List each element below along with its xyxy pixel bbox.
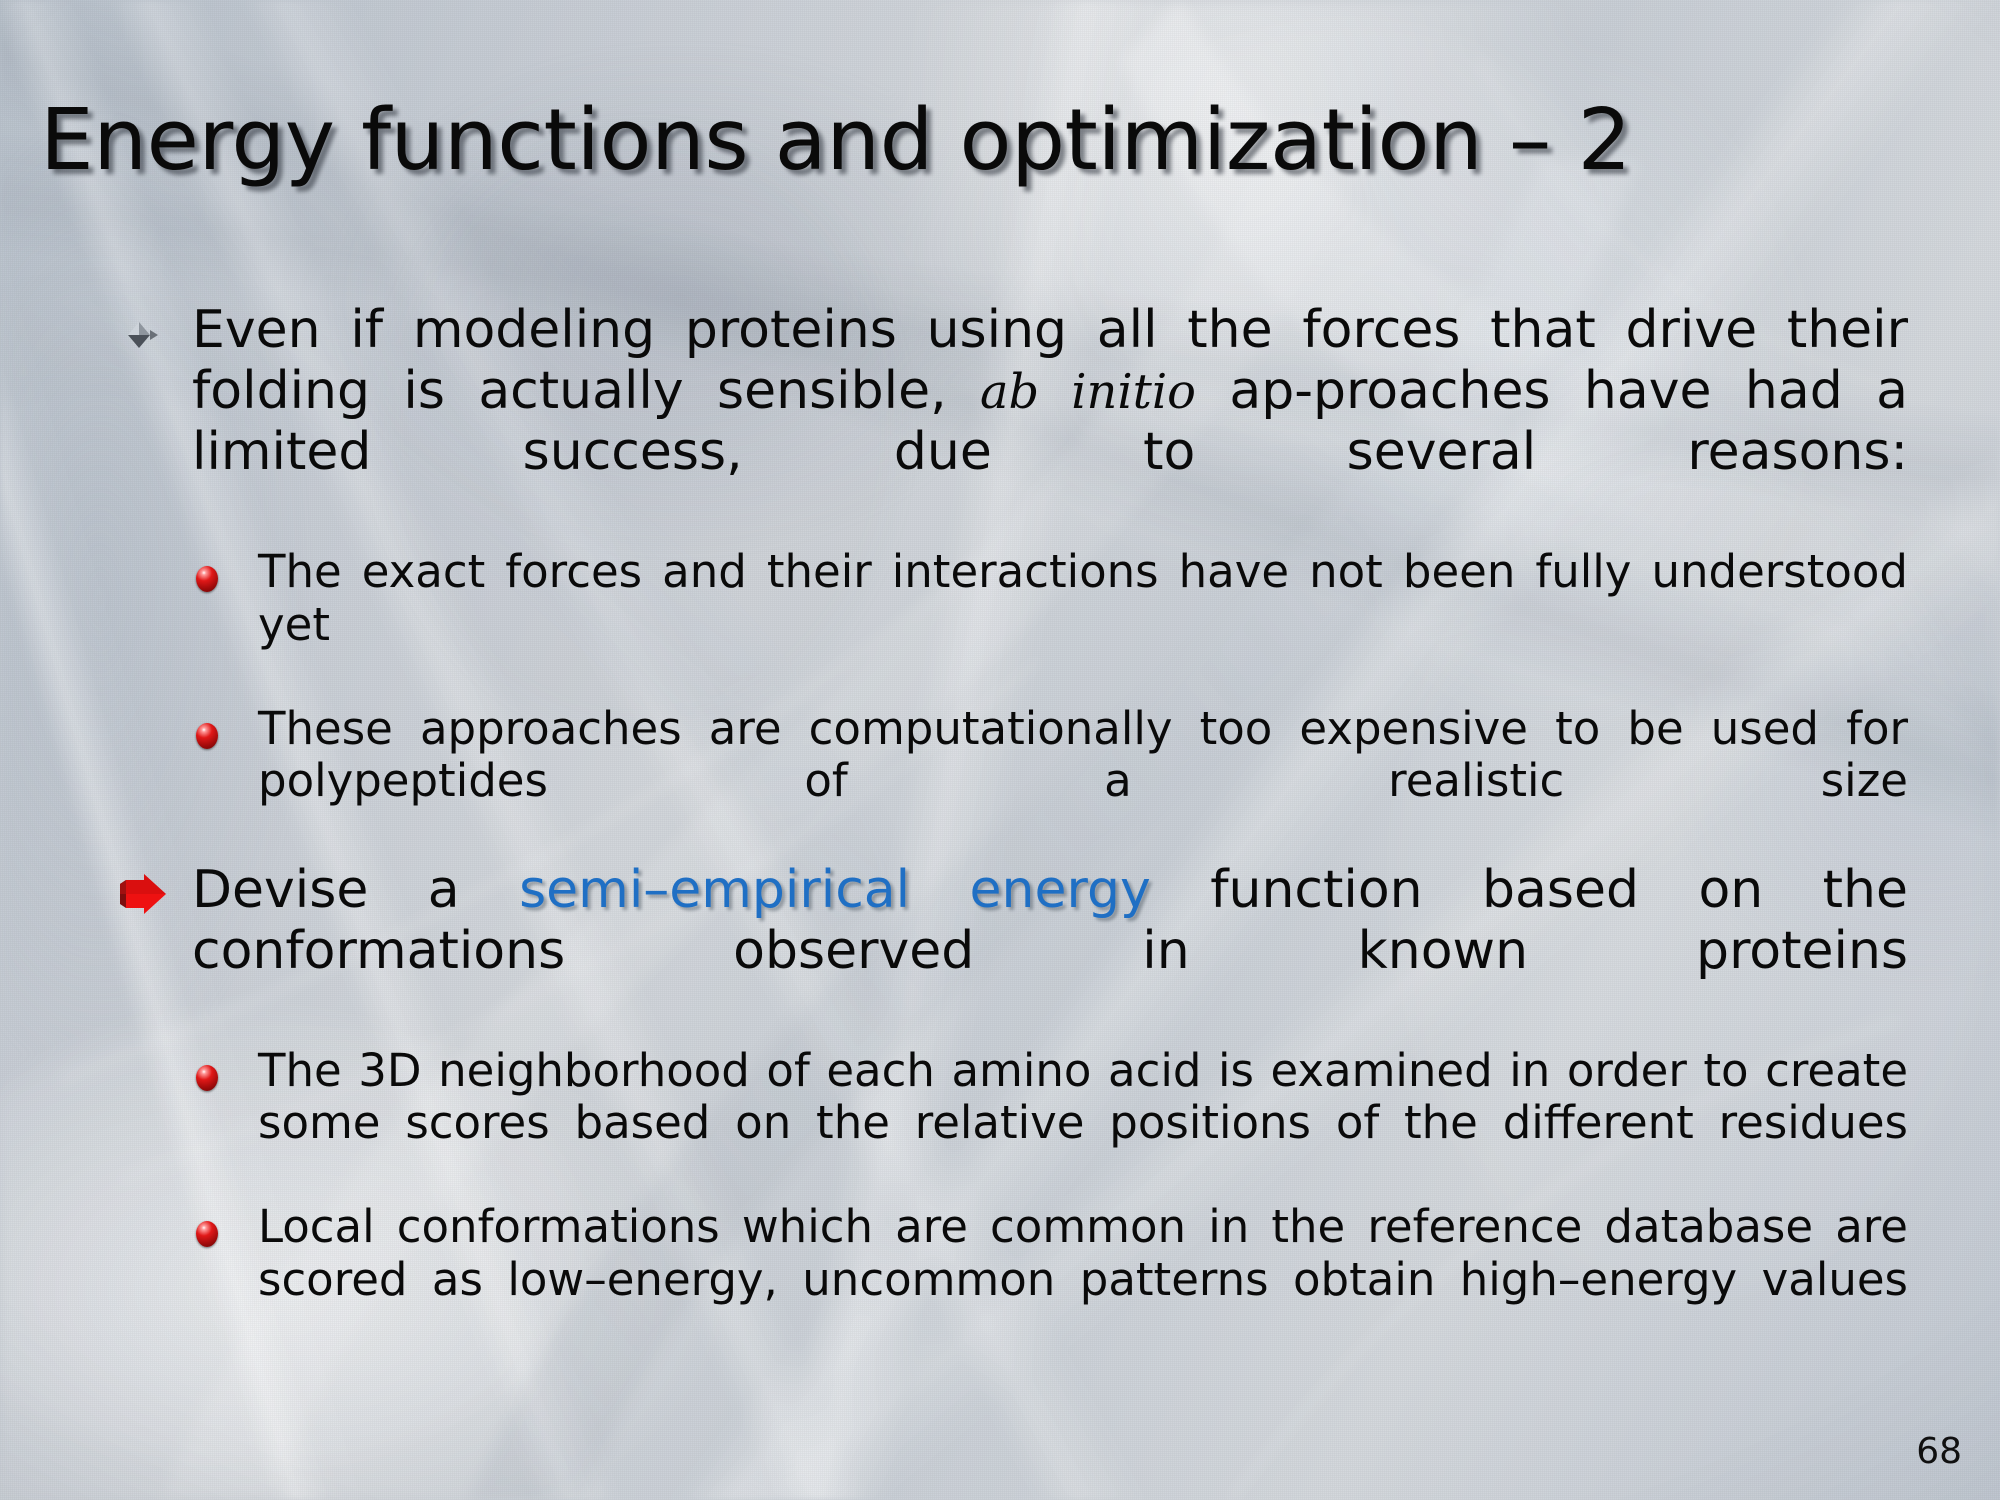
slide-title: Energy functions and optimization – 2 [40, 98, 1965, 183]
red-sphere-bullet-icon [196, 723, 218, 749]
bullet-level2-3d-neighborhood: The 3D neighborhood of each amino acid i… [118, 1045, 1908, 1202]
slide-body: Even if modeling proteins using all the … [118, 300, 1908, 1358]
bullet-level1-ab-initio: Even if modeling proteins using all the … [118, 300, 1908, 544]
red-sphere-bullet-icon [196, 1221, 218, 1247]
red-sphere-bullet-icon [196, 566, 218, 592]
bullet-text: The 3D neighborhood of each amino acid i… [258, 1045, 1908, 1202]
red-sphere-bullet-icon [196, 1065, 218, 1091]
slide-page-number: 68 [1916, 1431, 1962, 1472]
bullet-text: The exact forces and their interactions … [258, 546, 1908, 703]
red-arrow-bullet-icon [120, 874, 166, 914]
bullet-text-highlight-semi-empirical-energy: semi–empirical energy [519, 860, 1151, 920]
bullet-text: Local conformations which are common in … [258, 1201, 1908, 1358]
bullet-level2-computationally-expensive: These approaches are computationally too… [118, 703, 1908, 860]
bullet-text: Even if modeling proteins using all the … [192, 300, 1908, 544]
presentation-slide: Energy functions and optimization – 2 Ev… [0, 0, 2000, 1500]
bullet-text-italic-ab-initio: ab initio [980, 365, 1196, 420]
diamond-arrow-bullet-icon [128, 322, 158, 348]
bullet-text: Devise a semi–empirical energy function … [192, 860, 1908, 1043]
bullet-level2-exact-forces: The exact forces and their interactions … [118, 546, 1908, 703]
bullet-text-part: Devise a [192, 860, 519, 920]
bullet-level1-devise-semi-empirical: Devise a semi–empirical energy function … [118, 860, 1908, 1043]
bullet-text: These approaches are computationally too… [258, 703, 1908, 860]
bullet-level2-local-conformations: Local conformations which are common in … [118, 1201, 1908, 1358]
